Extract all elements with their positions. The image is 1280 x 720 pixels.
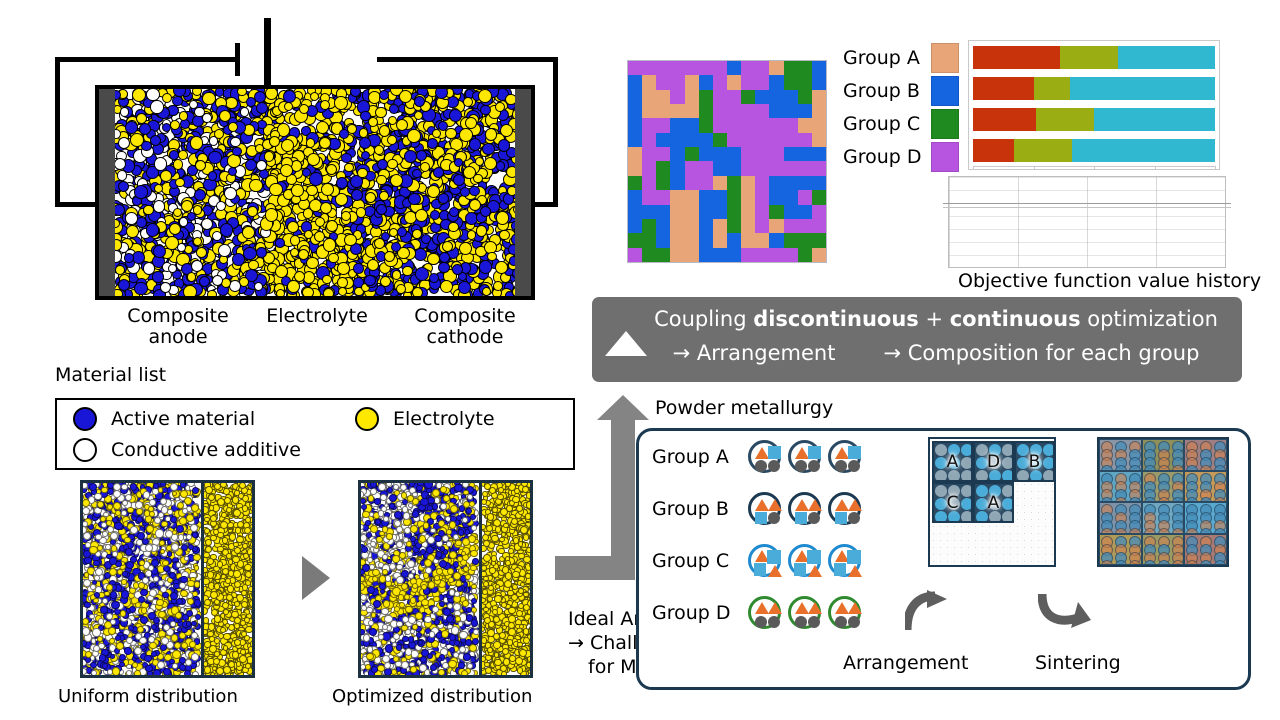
electrode-particle: [187, 480, 195, 487]
electrode-particle: [174, 642, 181, 649]
packing-particle: [407, 129, 421, 143]
packing-particle: [314, 231, 325, 242]
packing-particle: [438, 262, 450, 274]
electrode-particle: [90, 662, 96, 668]
material-list-box: Active material Electrolyte Conductive a…: [55, 398, 575, 470]
packing-particle: [399, 90, 412, 103]
electrode-particle: [180, 576, 188, 584]
packing-particle: [208, 151, 221, 164]
packing-particle: [480, 206, 491, 217]
electrode-particle: [143, 491, 150, 498]
packing-particle: [379, 90, 389, 100]
packing-particle: [117, 170, 128, 181]
electrode-particle: [83, 532, 91, 540]
circuit-wire-left-top: [55, 57, 235, 62]
material-label: Conductive additive: [111, 439, 301, 461]
electrode-particle: [109, 638, 115, 644]
packing-particle: [485, 128, 498, 141]
packing-particle: [427, 253, 440, 266]
electrode-particle: [100, 516, 106, 522]
packing-particle: [356, 207, 366, 217]
packing-particle: [367, 259, 379, 271]
packing-particle: [507, 186, 515, 196]
packing-particle: [249, 179, 263, 193]
packing-particle: [404, 150, 417, 163]
anode-label-line2: anode: [103, 327, 253, 348]
electrode-particle: [138, 596, 145, 603]
electrode-particle: [163, 668, 171, 676]
packing-particle: [487, 252, 496, 261]
packing-particle: [493, 281, 503, 291]
packing-particle: [376, 175, 386, 185]
electrode-particle: [121, 510, 127, 516]
packing-particle: [256, 160, 267, 171]
electrode-particle: [172, 650, 181, 659]
packing-particle: [445, 128, 456, 139]
packing-particle: [415, 209, 428, 222]
electrode-particle: [170, 483, 178, 491]
electrode-particle: [130, 483, 138, 491]
packing-particle: [178, 150, 188, 160]
packing-particle: [505, 94, 515, 106]
electrode-particle: [124, 647, 131, 654]
packing-particle: [237, 89, 246, 96]
electrode-particle: [145, 665, 153, 673]
packing-particle: [120, 107, 129, 116]
electrode-particle: [111, 601, 119, 609]
packing-particle: [323, 288, 335, 296]
packing-particle: [463, 166, 476, 179]
packing-particle: [172, 96, 182, 106]
electrode-particle: [148, 636, 155, 643]
conductive-additive-swatch: [73, 438, 97, 462]
packing-particle: [449, 207, 459, 217]
packing-particle: [269, 183, 283, 197]
packing-particle: [302, 287, 313, 296]
battery-cell-schematic: Composite anode Electrolyte Composite ca…: [55, 10, 600, 310]
cathode-label-line1: Composite: [390, 306, 540, 327]
packing-particle: [360, 111, 370, 121]
packing-particle: [433, 167, 444, 178]
packing-particle: [334, 96, 348, 110]
packing-particle: [230, 137, 241, 148]
circuit-wire-left-bottom: [55, 202, 97, 207]
electrode-particle: [192, 671, 199, 678]
packing-particle: [192, 89, 202, 96]
packing-particle: [512, 287, 515, 296]
anode-label-line1: Composite: [103, 306, 253, 327]
packing-particle: [224, 187, 237, 200]
electrode-particle: [189, 641, 195, 647]
packing-particle: [115, 289, 123, 296]
electrode-particle: [180, 590, 187, 597]
electrolyte-swatch: [355, 407, 379, 431]
electrode-particle: [122, 571, 128, 577]
packing-particle: [344, 234, 357, 247]
electrode-particle: [190, 524, 198, 532]
packing-particle: [183, 285, 197, 296]
electrode-particle: [186, 534, 192, 540]
electrode-particle: [160, 498, 167, 505]
electrode-particle: [178, 534, 185, 541]
packing-particle: [341, 153, 351, 163]
packing-particle: [307, 153, 320, 166]
packing-particle: [459, 242, 472, 255]
electrode-particle: [109, 557, 117, 565]
packing-particle: [336, 177, 348, 189]
electrode-particle: [149, 642, 156, 649]
electrode-particle: [113, 490, 121, 498]
packing-particle: [179, 111, 188, 120]
packing-particle: [243, 247, 256, 260]
packing-particle: [275, 238, 285, 248]
packing-particle: [228, 167, 237, 176]
packing-particle: [509, 256, 515, 266]
electrode-particle: [108, 627, 116, 635]
electrode-particle: [115, 510, 121, 516]
electrode-particle: [82, 521, 88, 527]
uniform-distribution-panel: [80, 480, 255, 678]
electrode-particle: [84, 557, 92, 565]
packing-particle: [499, 230, 510, 241]
packing-particle: [304, 230, 313, 239]
packing-particle: [344, 163, 354, 173]
electrode-particle: [167, 551, 173, 557]
electrode-particle: [93, 560, 99, 566]
packing-particle: [208, 171, 217, 180]
packing-particle: [126, 225, 139, 238]
packing-particle: [284, 102, 293, 111]
packing-particle: [495, 261, 508, 274]
packing-particle: [467, 230, 476, 239]
electrode-particle: [182, 614, 189, 621]
packing-particle: [374, 238, 385, 249]
packing-particle: [463, 97, 473, 107]
packing-particle: [115, 204, 125, 216]
electrode-particle: [191, 621, 197, 627]
material-label: Active material: [111, 408, 255, 430]
packing-particle: [247, 206, 258, 217]
packing-particle: [169, 223, 181, 235]
packing-particle: [187, 272, 197, 282]
material-label: Electrolyte: [393, 408, 495, 430]
packing-particle: [375, 107, 386, 118]
electrode-particle: [184, 497, 192, 505]
anode-label: Composite anode: [103, 306, 253, 349]
packing-particle: [212, 275, 223, 286]
battery-symbol-short-plate: [235, 43, 240, 76]
electrode-particle: [140, 589, 148, 597]
packing-particle: [264, 151, 275, 162]
electrode-particle: [92, 628, 101, 637]
packing-particle: [209, 136, 219, 146]
packing-particle: [207, 290, 217, 296]
electrode-particle: [132, 662, 138, 668]
material-list-title: Material list: [55, 364, 166, 386]
electrode-particle: [99, 654, 107, 662]
electrode-particle: [84, 602, 90, 608]
packing-particle: [337, 262, 350, 275]
packing-particle: [326, 164, 337, 175]
circuit-wire-right-top: [377, 57, 558, 62]
electrode-particle: [105, 544, 111, 550]
electrode-particle: [191, 653, 199, 661]
electrode-particle: [126, 561, 134, 569]
packing-particle: [438, 193, 449, 204]
packing-particle: [379, 125, 391, 137]
packing-particle: [248, 260, 259, 271]
packing-particle: [306, 138, 315, 147]
electrode-particle: [134, 670, 141, 677]
packing-particle: [287, 221, 299, 233]
material-item-electrolyte: Electrolyte: [355, 407, 495, 431]
packing-particle: [452, 264, 463, 275]
packing-particle: [482, 143, 494, 155]
electrode-particle: [125, 494, 132, 501]
electrode-particle: [193, 554, 201, 562]
material-item-active: Active material: [73, 407, 255, 431]
packing-particle: [146, 223, 159, 236]
packing-particle: [506, 166, 515, 178]
packing-particle: [465, 117, 477, 129]
packing-particle: [496, 161, 505, 170]
electrode-particle: [82, 627, 90, 635]
packing-particle: [276, 289, 285, 296]
packing-particle: [390, 174, 403, 187]
packing-particle: [484, 157, 497, 170]
electrode-particle: [136, 508, 142, 514]
packing-particle: [190, 136, 204, 150]
packing-particle: [216, 201, 226, 211]
packing-particle: [154, 157, 168, 171]
electrode-particle: [114, 522, 122, 530]
packing-particle: [220, 223, 234, 237]
packing-particle: [232, 147, 241, 156]
packing-particle: [170, 120, 180, 130]
electrode-particle: [139, 560, 145, 566]
packing-particle: [180, 119, 190, 129]
packing-particle: [339, 129, 349, 139]
packing-particle: [479, 260, 493, 274]
electrode-particle: [149, 499, 156, 506]
packing-particle: [227, 154, 241, 168]
electrode-particle: [82, 499, 90, 507]
packing-particle: [320, 202, 332, 214]
electrode-particle: [83, 579, 91, 587]
electrode-particle: [191, 632, 198, 639]
electrode-particle: [134, 647, 142, 655]
electrode-particle: [184, 670, 191, 677]
packing-particle: [316, 121, 329, 134]
cell-body: [95, 85, 535, 300]
packing-particle: [508, 244, 515, 255]
packing-particle: [454, 158, 463, 167]
packing-particle: [202, 92, 216, 106]
packing-particle: [193, 237, 203, 247]
packing-particle: [124, 253, 134, 263]
electrode-particle: [195, 614, 201, 620]
packing-particle: [469, 138, 481, 150]
electrode-particle: [112, 667, 120, 675]
packing-particle: [150, 100, 164, 114]
packing-particle: [482, 287, 491, 296]
packing-particle: [469, 186, 479, 196]
packing-particle: [194, 107, 205, 118]
electrode-particle: [95, 534, 102, 541]
packing-particle: [132, 251, 145, 264]
separator-region: [201, 483, 252, 675]
electrode-particle: [116, 642, 124, 650]
electrode-particle: [184, 556, 190, 562]
packing-particle: [191, 260, 203, 272]
packing-particle: [228, 122, 238, 132]
electrode-particle: [130, 526, 138, 534]
packing-particle: [476, 225, 487, 236]
electrode-particle: [121, 590, 129, 598]
electrode-particle: [162, 560, 168, 566]
packing-particle: [125, 121, 138, 134]
packing-particle: [357, 168, 367, 178]
electrode-particle: [112, 517, 118, 523]
packing-particle: [218, 244, 231, 257]
electrode-particle: [91, 670, 97, 676]
electrode-particle: [106, 613, 113, 620]
packing-particle: [175, 178, 185, 188]
electrode-particle: [170, 621, 176, 627]
packing-particle: [152, 271, 163, 282]
packing-particle: [337, 277, 348, 288]
packing-particle: [511, 233, 515, 246]
electrode-particle: [187, 598, 194, 605]
packing-particle: [154, 184, 163, 193]
electrode-particle: [109, 568, 117, 576]
circuit-wire-left-vertical: [55, 57, 60, 207]
electrode-particle: [181, 642, 188, 649]
packing-particle: [134, 185, 148, 199]
electrolyte-label: Electrolyte: [237, 306, 397, 327]
packing-particle: [265, 89, 278, 100]
active-material-swatch: [73, 407, 97, 431]
electrode-particle: [97, 545, 103, 551]
electrode-particle: [100, 606, 108, 614]
electrode-particle: [94, 493, 102, 501]
packing-particle: [323, 238, 337, 252]
packing-particle: [364, 275, 375, 286]
packing-particle: [412, 287, 423, 296]
packing-particle: [322, 275, 332, 285]
cathode-label-line2: cathode: [390, 327, 540, 348]
electrode-particle: [155, 529, 163, 537]
packing-particle: [153, 200, 166, 213]
packing-particle: [291, 184, 304, 197]
anode-current-collector: [99, 89, 115, 296]
electrode-particle: [161, 521, 167, 527]
electrode-particle: [121, 579, 127, 585]
packing-particle: [315, 217, 325, 227]
packing-particle: [427, 138, 438, 149]
packing-particle: [469, 199, 481, 211]
packing-particle: [118, 137, 130, 149]
packing-particle: [353, 263, 364, 274]
packing-particle: [309, 172, 323, 186]
packing-particle: [440, 280, 453, 293]
material-item-conductive: Conductive additive: [73, 438, 301, 462]
electrode-particle: [151, 651, 157, 657]
electrode-particle: [135, 501, 143, 509]
cathode-current-collector: [515, 89, 531, 296]
packing-particle: [416, 150, 427, 161]
electrode-particle: [185, 659, 192, 666]
packing-particle: [283, 90, 296, 103]
electrode-particle: [153, 576, 159, 582]
packing-particle: [240, 107, 250, 117]
electrode-particle: [169, 572, 176, 579]
electrode-particle: [169, 659, 175, 665]
electrode-particle: [84, 572, 90, 578]
packing-particle: [280, 164, 293, 177]
packing-particle: [478, 89, 492, 103]
packing-particle: [306, 257, 318, 269]
circuit-wire-right-vertical: [553, 57, 558, 207]
cathode-label: Composite cathode: [390, 306, 540, 349]
particle-packing: [115, 89, 515, 296]
packing-particle: [359, 137, 371, 149]
electrode-particle: [187, 580, 195, 588]
electrode-particle: [141, 607, 147, 613]
packing-particle: [387, 159, 397, 169]
electrode-particle: [82, 507, 90, 515]
packing-particle: [177, 243, 186, 252]
electrode-particle: [128, 625, 134, 631]
electrode-particle: [106, 584, 113, 591]
electrolyte-label-text: Electrolyte: [237, 306, 397, 327]
electrode-particle: [148, 565, 154, 571]
packing-particle: [246, 97, 256, 107]
electrode-particle: [98, 618, 105, 625]
packing-particle: [475, 157, 484, 166]
